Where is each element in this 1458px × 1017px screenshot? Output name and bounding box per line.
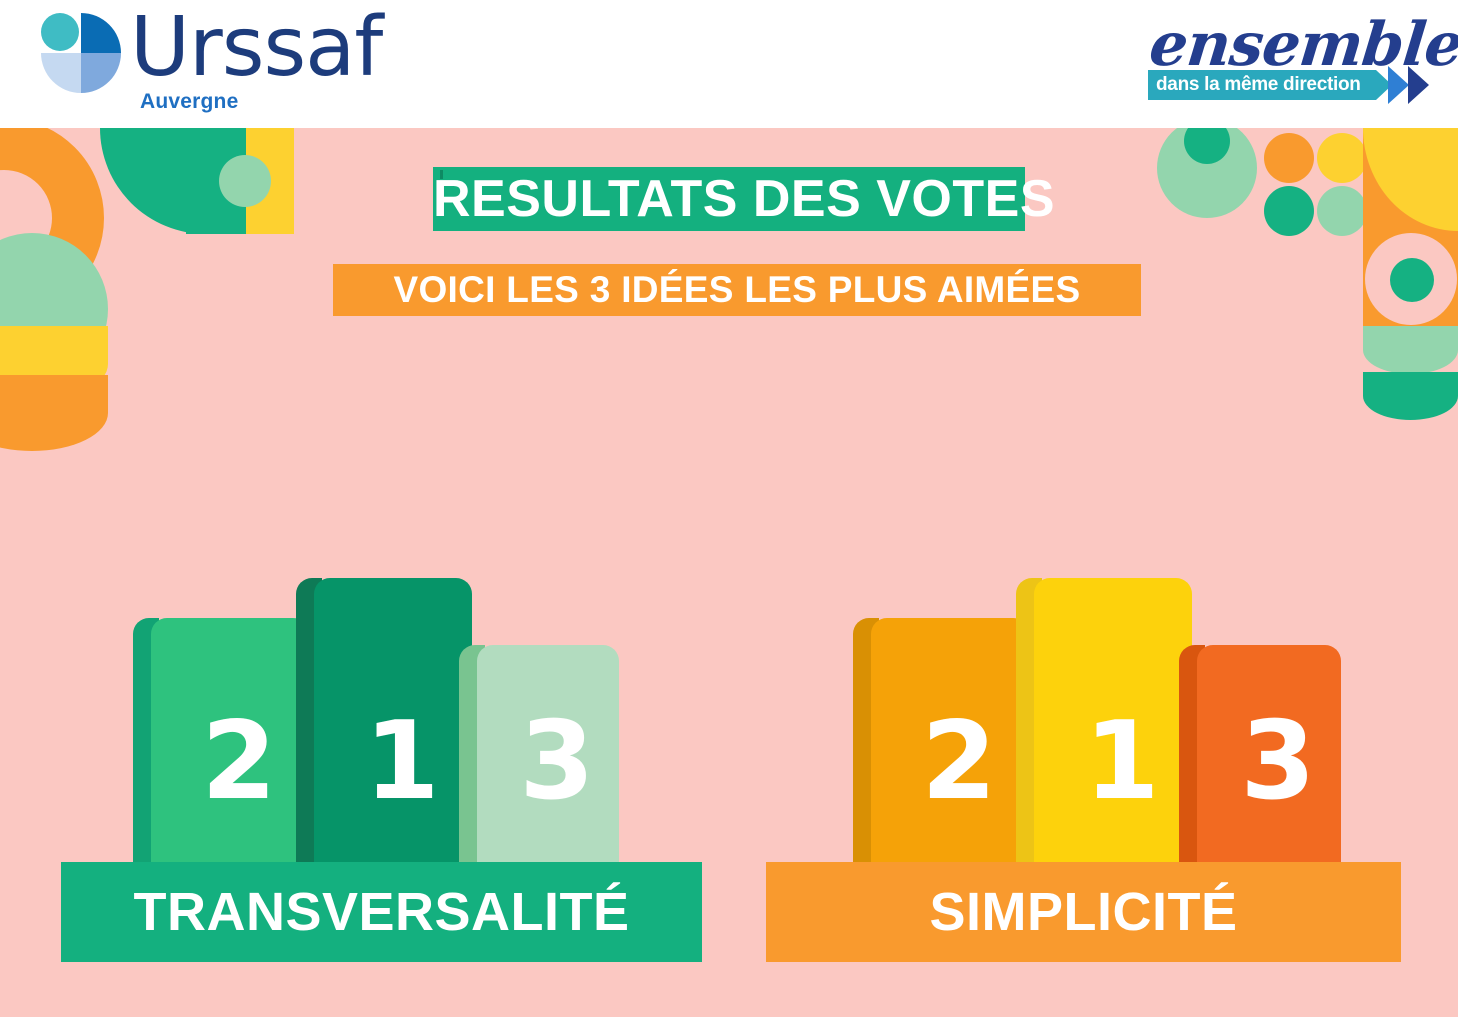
poster-canvas: Urssaf Auvergne ensemble dans la même di… xyxy=(0,0,1458,1017)
podium-block-rank-3[interactable]: 3 xyxy=(1179,645,1341,873)
podium-label-simplicite: SIMPLICITÉ xyxy=(766,862,1401,962)
urssaf-region-label: Auvergne xyxy=(140,90,238,114)
urssaf-leaf-logo-icon xyxy=(38,10,124,96)
chevron-right-icon xyxy=(1408,66,1429,104)
ensemble-campaign-logo[interactable]: ensemble dans la même direction xyxy=(1142,8,1442,116)
urssaf-wordmark: Urssaf xyxy=(130,0,382,96)
podium-rank-label: 3 xyxy=(1197,708,1359,816)
title-dot-artifact xyxy=(440,170,443,179)
podium-block-rank-2[interactable]: 2 xyxy=(853,618,1029,873)
podium-simplicite: 2 1 3 SIMPLICITÉ xyxy=(0,0,1458,1017)
page-title: RESULTATS DES VOTES xyxy=(433,167,1025,231)
ensemble-banner-text: dans la même direction xyxy=(1156,74,1361,96)
page-header: Urssaf Auvergne ensemble dans la même di… xyxy=(0,0,1458,128)
page-subtitle: VOICI LES 3 IDÉES LES PLUS AIMÉES xyxy=(333,264,1141,316)
chevron-right-icon xyxy=(1388,66,1409,104)
podium-block-rank-1[interactable]: 1 xyxy=(1016,578,1192,873)
urssaf-logo[interactable]: Urssaf Auvergne xyxy=(24,4,424,122)
